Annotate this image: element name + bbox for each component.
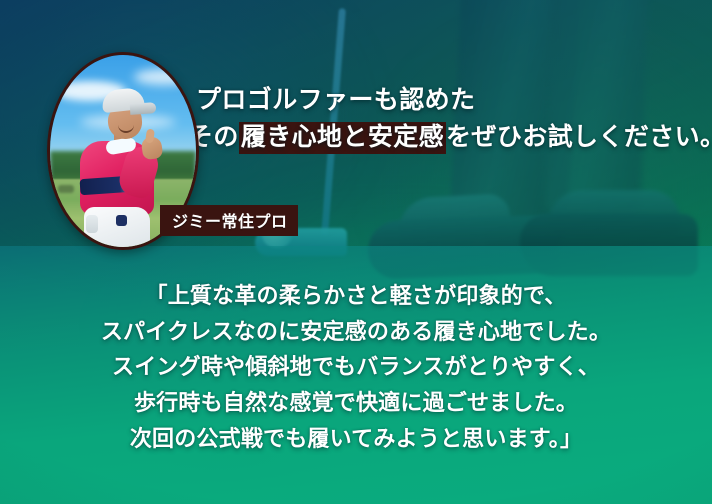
testimonial-banner: ジミー常住プロ プロゴルファーも認めた その履き心地と安定感をぜひお試しください… [0,0,712,504]
headline-highlighted-phrase: 履き心地と安定感 [239,122,446,154]
headline-line-2-suffix: をぜひお試しください。 [446,123,712,151]
quote-line: 歩行時も自然な感覚で快適に過ごせました。 [0,385,712,421]
headline-line-1: プロゴルファーも認めた [196,82,704,119]
golfer-pants-logo [116,215,127,226]
quote-line: スパイクレスなのに安定感のある履き心地でした。 [0,314,712,350]
headline-line-2: その履き心地と安定感をぜひお試しください。 [188,119,704,156]
pro-golfer-name-label: ジミー常住プロ [160,205,298,236]
golfer-pants-pocket [86,215,98,233]
quote-line: 「上質な革の柔らかさと軽さが印象的で、 [0,278,712,314]
quote-line: スイング時や傾斜地でもバランスがとりやすく、 [0,349,712,385]
headline: プロゴルファーも認めた その履き心地と安定感をぜひお試しください。 [196,82,704,156]
portrait-cloud [134,69,194,85]
quote-line: 次回の公式戦でも履いてみようと思います。」 [0,421,712,457]
golfer-cap-brim [130,102,157,115]
portrait-distant-object [58,185,74,193]
testimonial-quote: 「上質な革の柔らかさと軽さが印象的で、 スパイクレスなのに安定感のある履き心地で… [0,278,712,456]
